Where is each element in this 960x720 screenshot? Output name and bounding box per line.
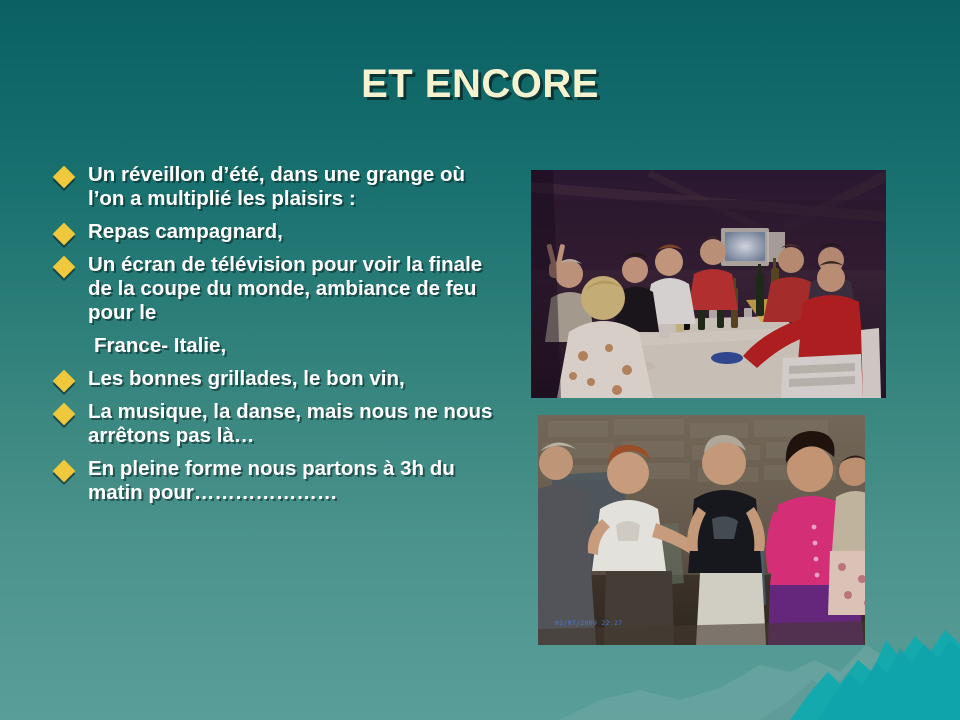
dinner-table-photo [531, 170, 886, 398]
list-item-label: France- Italie, [88, 334, 494, 358]
diamond-bullet-icon [53, 223, 76, 246]
list-item-label: Un écran de télévision pour voir la fina… [88, 253, 494, 325]
list-item-label: Les bonnes grillades, le bon vin, [88, 367, 494, 391]
list-item-continuation: France- Italie, [44, 334, 494, 358]
list-item: Un réveillon d’été, dans une grange où l… [44, 163, 494, 211]
dancing-photo: 02/07/2009 22:27 [538, 415, 865, 645]
diamond-bullet-icon [53, 403, 76, 426]
list-item: La musique, la danse, mais nous ne nous … [44, 400, 494, 448]
list-item: Un écran de télévision pour voir la fina… [44, 253, 494, 325]
diamond-bullet-icon [53, 256, 76, 279]
diamond-bullet-icon [53, 370, 76, 393]
list-item: Repas campagnard, [44, 220, 494, 244]
list-item: En pleine forme nous partons à 3h du mat… [44, 457, 494, 505]
list-item-label: Repas campagnard, [88, 220, 494, 244]
diamond-bullet-icon [53, 166, 76, 189]
bullet-list: Un réveillon d’été, dans une grange où l… [44, 163, 494, 514]
diamond-bullet-icon [53, 460, 76, 483]
list-item-label: La musique, la danse, mais nous ne nous … [88, 400, 494, 448]
page-title: ET ENCORE [0, 62, 960, 107]
presentation-slide: ET ENCORE Un réveillon d’été, dans une g… [0, 0, 960, 720]
list-item-label: Un réveillon d’été, dans une grange où l… [88, 163, 494, 211]
list-item: Les bonnes grillades, le bon vin, [44, 367, 494, 391]
list-item-label: En pleine forme nous partons à 3h du mat… [88, 457, 494, 505]
bullet-placeholder [56, 340, 72, 356]
photo-timestamp: 02/07/2009 22:27 [555, 619, 622, 627]
